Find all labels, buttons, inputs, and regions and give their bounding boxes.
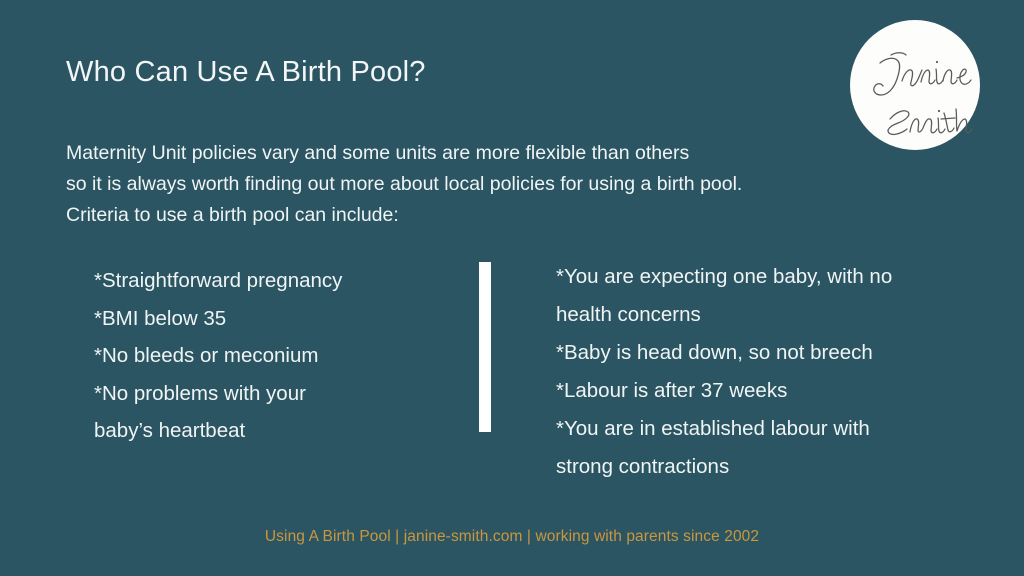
column-divider <box>479 262 491 432</box>
intro-line: Criteria to use a birth pool can include… <box>66 200 896 231</box>
list-item: *BMI below 35 <box>94 300 464 338</box>
footer-title: Using A Birth Pool <box>265 528 391 545</box>
criteria-list-left: *Straightforward pregnancy *BMI below 35… <box>94 262 464 450</box>
list-item: strong contractions <box>556 448 956 486</box>
janine-smith-signature-logo <box>850 20 980 150</box>
list-item: *Labour is after 37 weeks <box>556 372 956 410</box>
footer-separator: | <box>391 528 404 545</box>
signature-script-icon <box>856 33 974 137</box>
list-item: health concerns <box>556 296 956 334</box>
footer-website[interactable]: janine-smith.com <box>404 528 523 545</box>
intro-line: so it is always worth finding out more a… <box>66 169 896 200</box>
list-item: baby’s heartbeat <box>94 412 464 450</box>
list-item: *No bleeds or meconium <box>94 337 464 375</box>
list-item: *No problems with your <box>94 375 464 413</box>
criteria-list-right: *You are expecting one baby, with no hea… <box>556 258 956 486</box>
footer-credit: Using A Birth Pool | janine-smith.com | … <box>0 528 1024 546</box>
intro-paragraph: Maternity Unit policies vary and some un… <box>66 138 896 231</box>
presentation-slide: Who Can Use A Birth Pool? Maternity Unit… <box>0 0 1024 576</box>
intro-line: Maternity Unit policies vary and some un… <box>66 138 896 169</box>
page-title: Who Can Use A Birth Pool? <box>66 56 426 89</box>
list-item: *You are expecting one baby, with no <box>556 258 956 296</box>
list-item: *Baby is head down, so not breech <box>556 334 956 372</box>
list-item: *Straightforward pregnancy <box>94 262 464 300</box>
footer-tagline: working with parents since 2002 <box>535 528 759 545</box>
list-item: *You are in established labour with <box>556 410 956 448</box>
footer-separator: | <box>522 528 535 545</box>
